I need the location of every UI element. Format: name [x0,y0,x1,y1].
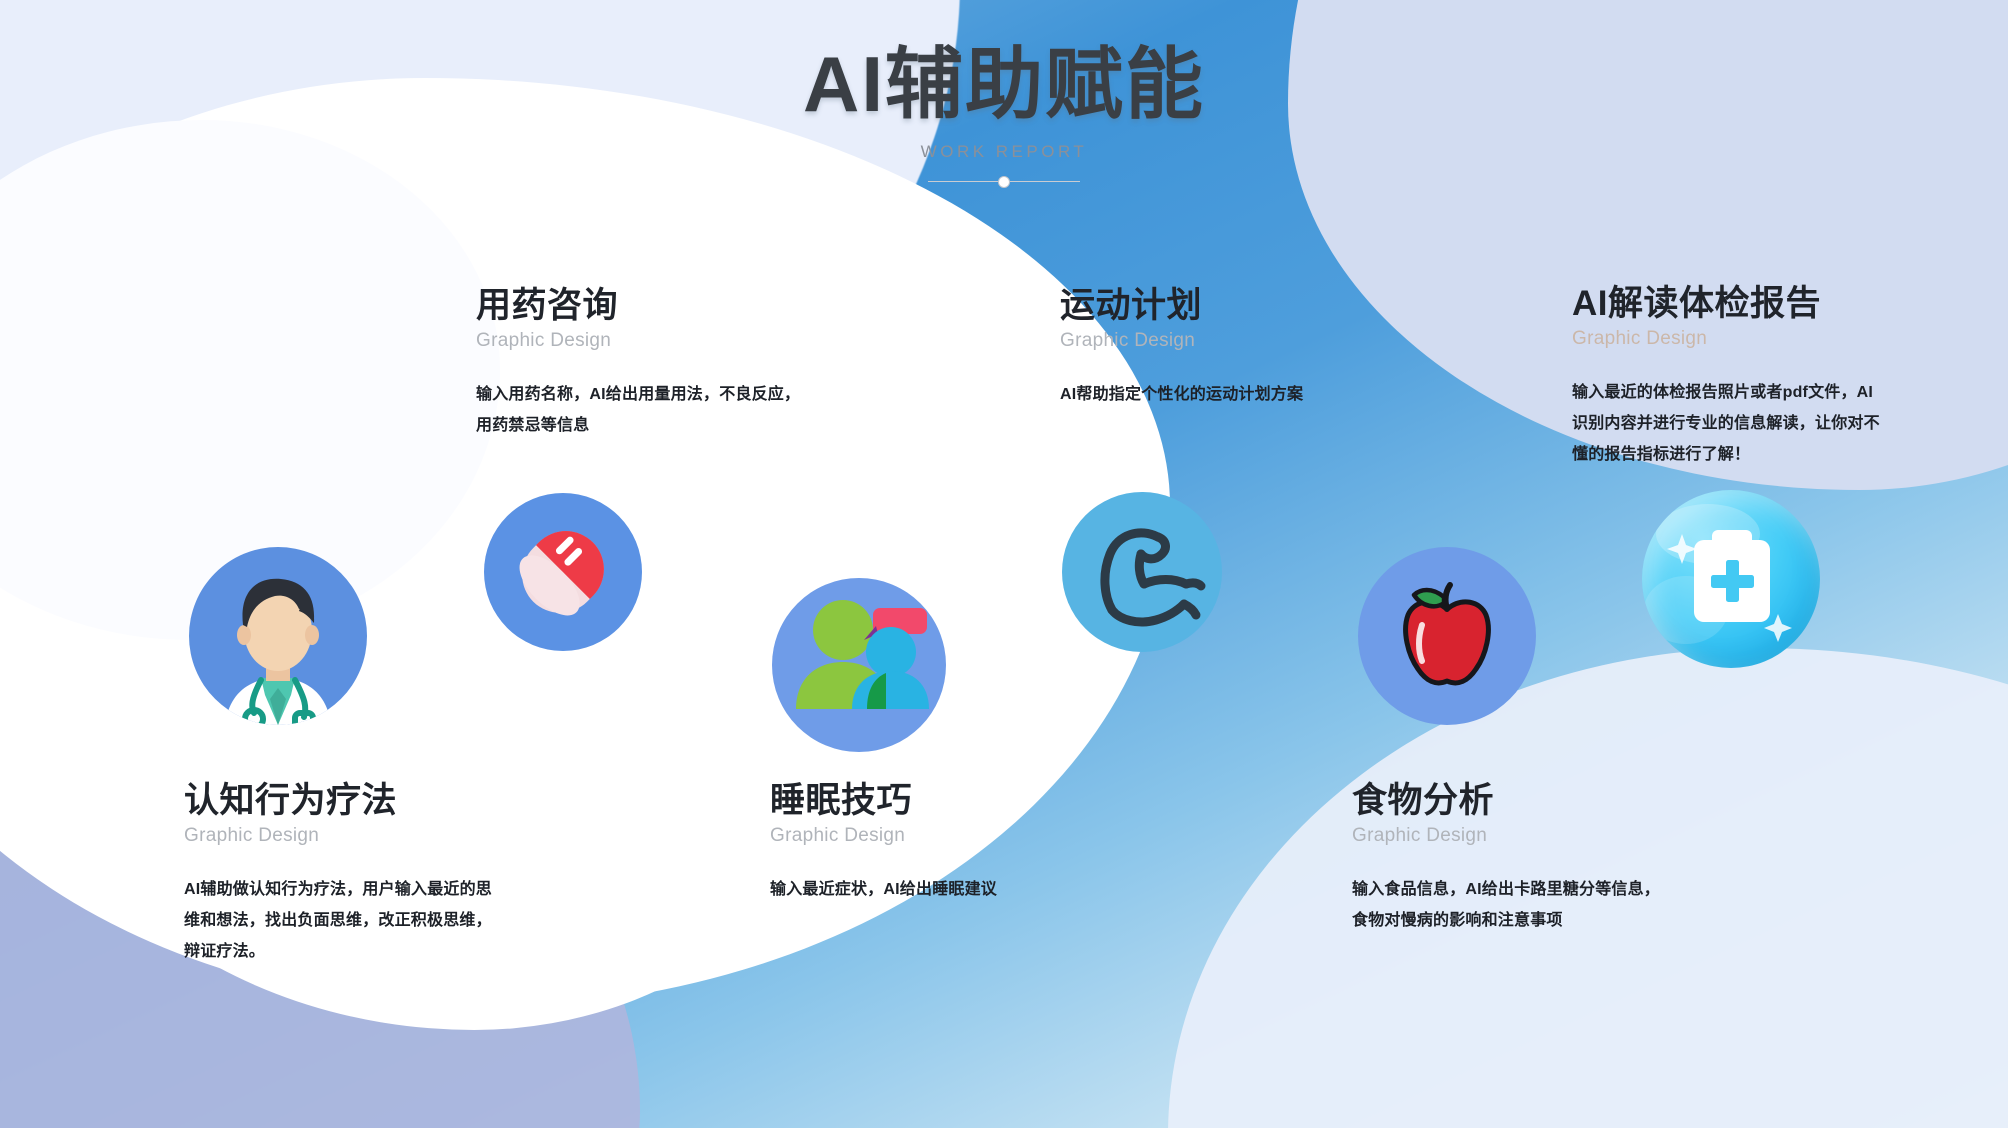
block-description: AI帮助指定个性化的运动计划方案 [1060,380,1390,411]
description-line: 识别内容并进行专业的信息解读，让你对不 [1572,409,1932,440]
description-line: 懂的报告指标进行了解！ [1572,440,1932,471]
block-exercise-plan[interactable]: 运动计划 Graphic Design AI帮助指定个性化的运动计划方案 [1060,285,1390,411]
slide-canvas: AI辅助赋能 WORK REPORT 用药咨询 Graphic Design 输… [0,0,2008,1128]
block-subtitle: Graphic Design [476,330,876,352]
block-description: 输入用药名称，AI给出用量用法，不良反应， 用药禁忌等信息 [476,380,876,441]
description-line: AI帮助指定个性化的运动计划方案 [1060,380,1390,411]
block-description: AI辅助做认知行为疗法，用户输入最近的思 维和想法，找出负面思维，改正积极思维，… [184,875,584,967]
icon-flexed-bicep[interactable] [1062,492,1222,652]
block-subtitle: Graphic Design [770,825,1100,847]
block-cbt-therapy[interactable]: 认知行为疗法 Graphic Design AI辅助做认知行为疗法，用户输入最近… [184,780,584,967]
block-title: 睡眠技巧 [770,780,1100,821]
block-description: 输入最近的体检报告照片或者pdf文件，AI 识别内容并进行专业的信息解读，让你对… [1572,378,1932,470]
icon-doctor-avatar[interactable] [189,547,367,725]
doctor-avatar-icon [189,547,367,725]
block-subtitle: Graphic Design [1572,328,1932,350]
description-line: AI辅助做认知行为疗法，用户输入最近的思 [184,875,584,906]
medical-clipboard-icon [1642,490,1820,668]
description-line: 输入用药名称，AI给出用量用法，不良反应， [476,380,876,411]
block-description: 输入最近症状，AI给出睡眠建议 [770,875,1100,906]
page-subtitle: WORK REPORT [0,142,2008,162]
description-line: 输入最近的体检报告照片或者pdf文件，AI [1572,378,1932,409]
block-title: 运动计划 [1060,285,1390,326]
block-ai-report-reading[interactable]: AI解读体检报告 Graphic Design 输入最近的体检报告照片或者pdf… [1572,283,1932,470]
description-line: 用药禁忌等信息 [476,411,876,442]
slide-header: AI辅助赋能 WORK REPORT [0,44,2008,188]
block-sleep-skills[interactable]: 睡眠技巧 Graphic Design 输入最近症状，AI给出睡眠建议 [770,780,1100,906]
block-title: AI解读体检报告 [1572,283,1932,324]
divider-dot [998,176,1010,188]
description-line: 辩证疗法。 [184,937,584,968]
block-subtitle: Graphic Design [184,825,584,847]
block-description: 输入食品信息，AI给出卡路里糖分等信息， 食物对慢病的影响和注意事项 [1352,875,1732,936]
description-line: 食物对慢病的影响和注意事项 [1352,906,1732,937]
apple-icon [1358,547,1536,725]
block-subtitle: Graphic Design [1352,825,1732,847]
block-food-analysis[interactable]: 食物分析 Graphic Design 输入食品信息，AI给出卡路里糖分等信息，… [1352,780,1732,937]
description-line: 输入食品信息，AI给出卡路里糖分等信息， [1352,875,1732,906]
description-line: 维和想法，找出负面思维，改正积极思维， [184,906,584,937]
block-medication-consult[interactable]: 用药咨询 Graphic Design 输入用药名称，AI给出用量用法，不良反应… [476,285,876,442]
block-title: 认知行为疗法 [184,780,584,821]
people-talking-icon [772,578,946,752]
pill-capsule-icon [484,493,642,651]
page-title: AI辅助赋能 [0,44,2008,126]
icon-pill-capsule[interactable] [484,493,642,651]
header-divider [928,176,1080,188]
description-line: 输入最近症状，AI给出睡眠建议 [770,875,1100,906]
icon-medical-clipboard[interactable] [1642,490,1820,668]
block-subtitle: Graphic Design [1060,330,1390,352]
block-title: 食物分析 [1352,780,1732,821]
block-title: 用药咨询 [476,285,876,326]
icon-apple[interactable] [1358,547,1536,725]
flexed-bicep-icon [1062,492,1222,652]
icon-people-talking[interactable] [772,578,946,752]
